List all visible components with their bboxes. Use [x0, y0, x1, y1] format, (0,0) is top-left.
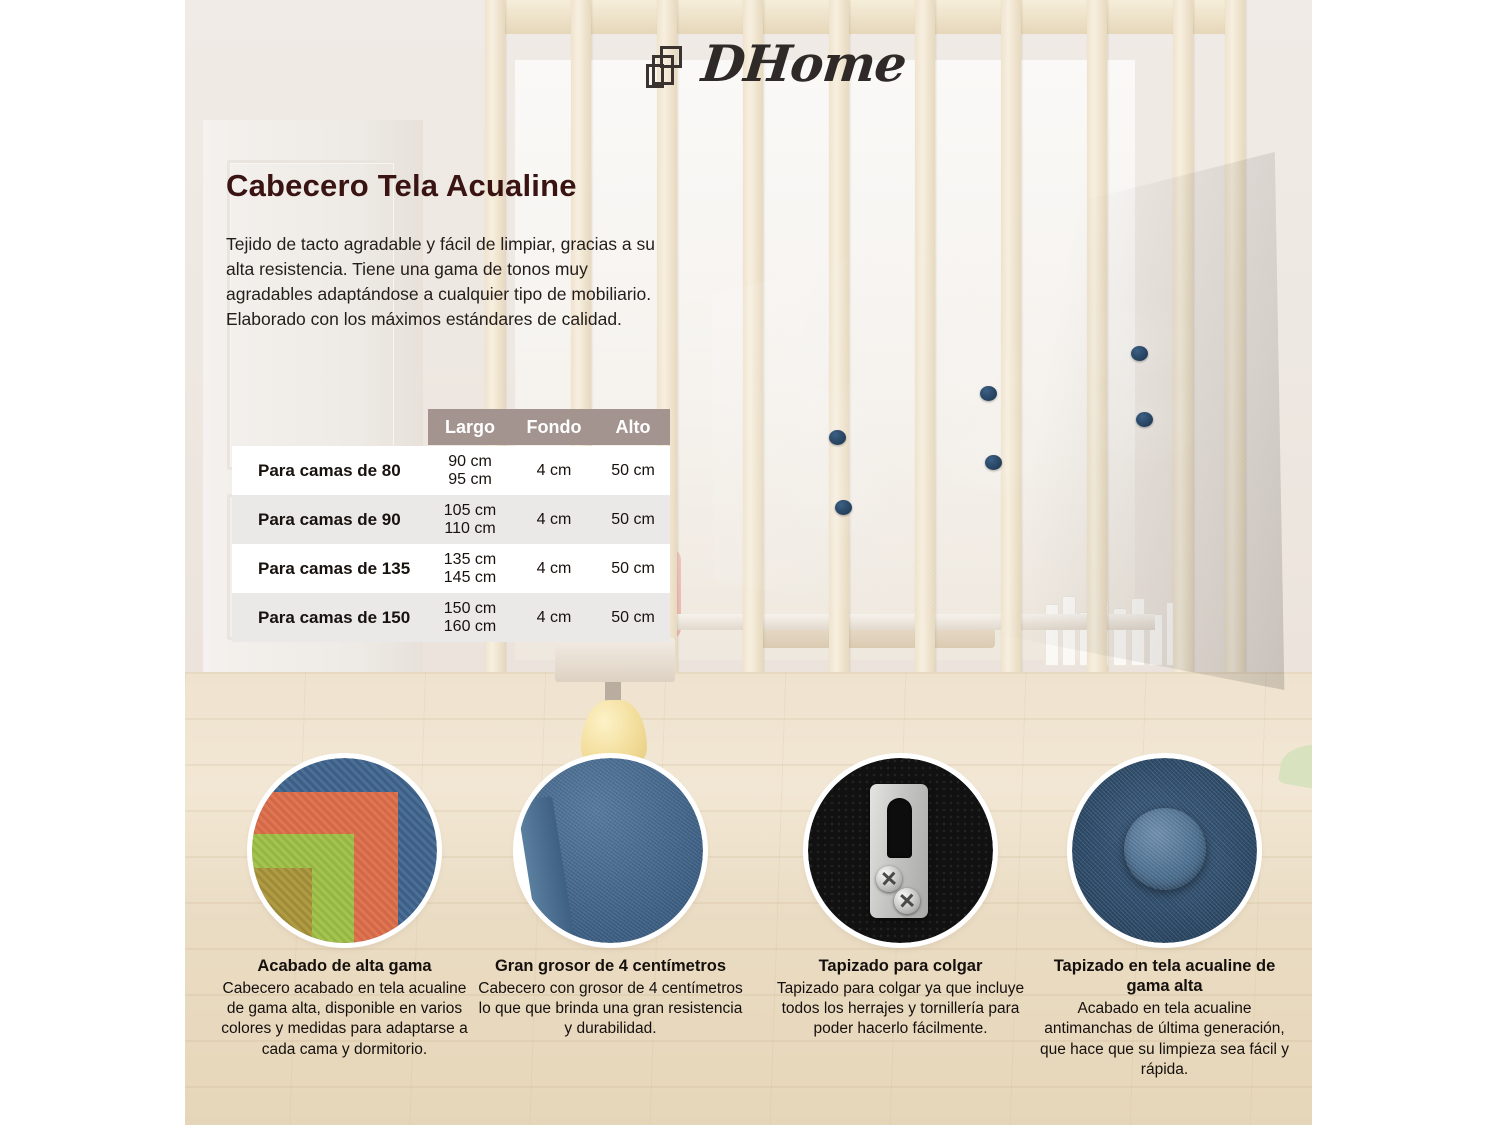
feature-body: Acabado en tela acualine antimanchas de …	[1032, 999, 1297, 1080]
table-row: Para camas de 90 105 cm110 cm 4 cm 50 cm	[232, 495, 670, 544]
feature-heading: Acabado de alta gama	[212, 956, 477, 976]
cell-fondo: 4 cm	[512, 511, 596, 529]
column-header-largo: Largo	[428, 417, 512, 438]
tufted-button-icon	[1072, 758, 1257, 943]
feature-block: Tapizado en tela acualine de gama alta A…	[1032, 758, 1297, 1080]
feature-heading: Tapizado en tela acualine de gama alta	[1032, 956, 1297, 996]
row-label: Para camas de 135	[232, 559, 428, 579]
cell-fondo: 4 cm	[512, 462, 596, 480]
feature-body: Cabecero con grosor de 4 centímetros lo …	[478, 979, 743, 1039]
page-title: Cabecero Tela Acualine	[226, 168, 577, 204]
feature-block: Tapizado para colgar Tapizado para colga…	[768, 758, 1033, 1040]
headboard-shading	[700, 140, 1300, 710]
cell-largo: 90 cm95 cm	[428, 453, 512, 489]
feature-block: Acabado de alta gama Cabecero acabado en…	[212, 758, 477, 1060]
cell-alto: 50 cm	[596, 462, 670, 480]
feature-body: Tapizado para colgar ya que incluye todo…	[768, 979, 1033, 1039]
row-label: Para camas de 150	[232, 608, 428, 628]
cell-largo: 135 cm145 cm	[428, 551, 512, 587]
row-label: Para camas de 80	[232, 461, 428, 481]
cell-alto: 50 cm	[596, 560, 670, 578]
feature-block: Gran grosor de 4 centímetros Cabecero co…	[478, 758, 743, 1040]
feature-heading: Gran grosor de 4 centímetros	[478, 956, 743, 976]
cell-fondo: 4 cm	[512, 609, 596, 627]
cell-alto: 50 cm	[596, 511, 670, 529]
cell-largo: 105 cm110 cm	[428, 502, 512, 538]
tufting-button	[829, 430, 846, 445]
tufting-button	[980, 386, 997, 401]
column-header-alto: Alto	[596, 417, 670, 438]
table-row: Para camas de 135 135 cm145 cm 4 cm 50 c…	[232, 544, 670, 593]
infographic-canvas: DHome Cabecero Tela Acualine Tejido de t…	[0, 0, 1500, 1125]
wall-bracket-icon	[808, 758, 993, 943]
feature-heading: Tapizado para colgar	[768, 956, 1033, 976]
row-label: Para camas de 90	[232, 510, 428, 530]
feature-body: Cabecero acabado en tela acualine de gam…	[212, 979, 477, 1060]
tufting-button	[1131, 346, 1148, 361]
table-row: Para camas de 150 150 cm160 cm 4 cm 50 c…	[232, 593, 670, 642]
tufting-button	[985, 455, 1002, 470]
table-header-row: Largo Fondo Alto	[428, 409, 670, 445]
cell-fondo: 4 cm	[512, 560, 596, 578]
column-header-fondo: Fondo	[512, 417, 596, 438]
tufting-button	[1136, 412, 1153, 427]
table-body: Para camas de 80 90 cm95 cm 4 cm 50 cm P…	[232, 446, 670, 642]
cell-alto: 50 cm	[596, 609, 670, 627]
brand-name: DHome	[699, 34, 909, 93]
headboard-product-image	[700, 140, 1300, 710]
table-row: Para camas de 80 90 cm95 cm 4 cm 50 cm	[232, 446, 670, 495]
product-description: Tejido de tacto agradable y fácil de lim…	[226, 232, 678, 331]
lamp-shade	[555, 638, 675, 682]
nested-squares-logo-icon	[646, 46, 696, 96]
cell-largo: 150 cm160 cm	[428, 600, 512, 636]
brand-logo: DHome	[646, 36, 876, 102]
tufting-button	[835, 500, 852, 515]
fabric-swatches-icon	[252, 758, 437, 943]
fabric-thickness-icon	[518, 758, 703, 943]
